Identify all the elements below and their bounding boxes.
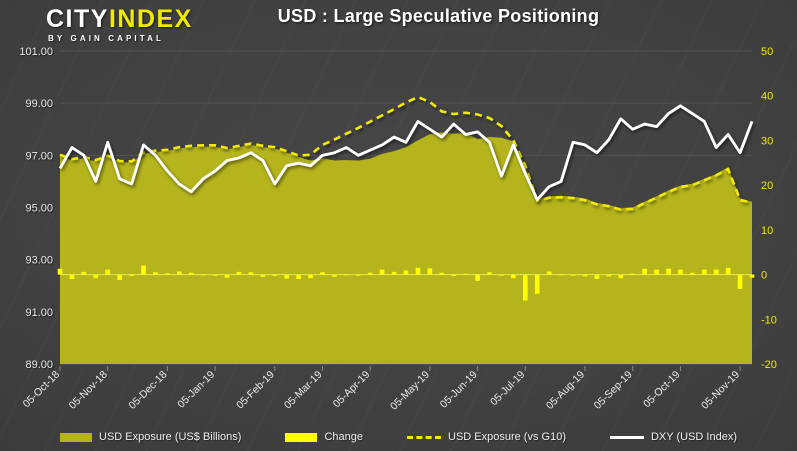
right-axis-tick-label: 50	[761, 46, 773, 58]
chart-legend: USD Exposure (US$ Billions) Change USD E…	[0, 431, 797, 443]
right-axis-tick-label: -10	[761, 314, 777, 326]
left-axis-tick-label: 99.00	[25, 98, 53, 110]
x-axis-tick-label: 05-May-19	[388, 369, 432, 413]
bar-change	[58, 269, 63, 275]
x-axis-tick-label: 05-Oct-18	[21, 369, 63, 411]
bar-change	[428, 268, 433, 274]
bar-change	[535, 275, 540, 294]
x-axis-tick-label: 05-Aug-19	[544, 369, 587, 412]
right-axis-tick-label: -20	[761, 359, 777, 371]
bar-change	[726, 268, 731, 275]
chart-app: CITYINDEX BY GAIN CAPITAL USD : Large Sp…	[0, 0, 797, 451]
x-axis-tick-label: 05-Jun-19	[438, 369, 480, 411]
bar-change	[618, 275, 623, 279]
bar-change	[404, 271, 409, 275]
right-axis-tick-label: 30	[761, 135, 773, 147]
left-axis-tick-label: 97.00	[25, 150, 53, 162]
bar-change	[416, 268, 421, 275]
bar-change	[511, 275, 516, 279]
legend-label: Change	[324, 431, 363, 443]
solid-line-swatch-icon	[610, 436, 644, 439]
x-axis-tick-label: 05-Mar-19	[282, 369, 325, 412]
bar-change	[475, 275, 480, 281]
bar-change	[380, 270, 385, 275]
legend-item-usd-exposure-billions: USD Exposure (US$ Billions)	[60, 431, 241, 443]
bar-change	[93, 275, 98, 279]
bar-change	[595, 275, 600, 279]
bar-change	[666, 269, 671, 275]
legend-item-usd-exposure-g10: USD Exposure (vs G10)	[407, 431, 566, 443]
legend-label: DXY (USD Index)	[651, 431, 737, 443]
bar-change	[642, 269, 647, 275]
bar-change	[105, 270, 110, 275]
bar-change	[141, 266, 146, 275]
x-axis-tick-label: 05-Jul-19	[488, 369, 528, 409]
chart-canvas: 89.0091.0093.0095.0097.0099.00101.00-20-…	[0, 0, 797, 451]
left-axis-tick-label: 101.00	[19, 46, 53, 58]
area-swatch-icon	[60, 433, 92, 442]
left-axis-tick-label: 95.00	[25, 203, 53, 215]
bar-change	[284, 275, 289, 279]
x-axis-tick-label: 05-Feb-19	[234, 369, 277, 412]
x-axis-tick-label: 05-Jan-19	[175, 369, 217, 411]
bar-change	[738, 275, 743, 289]
legend-item-dxy: DXY (USD Index)	[610, 431, 737, 443]
x-axis-tick-label: 05-Sep-19	[592, 369, 635, 412]
x-axis-tick-label: 05-Dec-18	[126, 369, 169, 412]
bar-change	[308, 275, 313, 279]
bar-change	[117, 275, 122, 280]
bar-change	[702, 270, 707, 275]
legend-label: USD Exposure (US$ Billions)	[99, 431, 241, 443]
right-axis-tick-label: 20	[761, 180, 773, 192]
bar-change	[678, 270, 683, 275]
right-axis-tick-label: 0	[761, 270, 767, 282]
bar-swatch-icon	[285, 433, 317, 442]
x-axis-tick-label: 05-Nov-19	[699, 369, 742, 412]
x-axis-tick-label: 05-Apr-19	[331, 369, 373, 411]
bar-change	[523, 275, 528, 301]
x-axis-tick-label: 05-Nov-18	[67, 369, 110, 412]
right-axis-tick-label: 10	[761, 225, 773, 237]
left-axis-tick-label: 91.00	[25, 307, 53, 319]
legend-label: USD Exposure (vs G10)	[448, 431, 566, 443]
bar-change	[70, 275, 75, 279]
bar-change	[654, 270, 659, 275]
dashed-line-swatch-icon	[407, 436, 441, 439]
right-axis-tick-label: 40	[761, 91, 773, 103]
bar-change	[714, 270, 719, 275]
legend-item-change: Change	[285, 431, 363, 443]
left-axis-tick-label: 89.00	[25, 359, 53, 371]
x-axis-tick-label: 05-Oct-19	[641, 369, 683, 411]
left-axis-tick-label: 93.00	[25, 255, 53, 267]
bar-change	[296, 275, 301, 279]
